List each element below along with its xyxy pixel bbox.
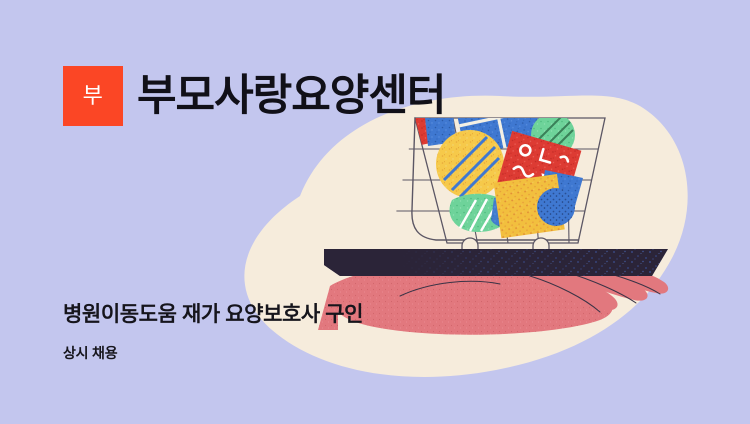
logo-badge-text: 부 [83,85,104,107]
cart-wheels [462,238,549,252]
green-striped-blob [450,194,510,232]
brand-row: 부 부모사랑요양센터 [63,66,445,126]
platform [324,249,668,276]
cart-basket [415,118,605,243]
brand-title: 부모사랑요양센터 [137,75,445,118]
blue-overlay-blob [491,197,516,226]
cart-grid [396,118,598,243]
finger-1 [536,268,618,310]
cart-handle [412,118,578,240]
subline: 상시 채용 [63,345,363,362]
finger-3 [598,266,668,294]
job-posting-banner: 부 부모사랑요양센터 병원이동도움 재가 요양보호사 구인 상시 채용 [0,0,750,424]
copy-block: 병원이동도움 재가 요양보호사 구인 상시 채용 [63,302,363,362]
yellow-striped-circle [436,130,504,198]
blue-underlayer [540,170,583,206]
cart-wheel-right [533,238,549,252]
hand [318,265,668,335]
orange-yellow-square [494,174,565,238]
cart-wheel-left [462,238,478,252]
red-patterned-square [497,131,582,205]
finger-2 [568,266,648,301]
logo-badge: 부 [63,66,123,126]
green-striped-circle [531,113,575,157]
headline: 병원이동도움 재가 요양보호사 구인 [63,302,363,327]
blue-circle [537,188,575,226]
blue-gift-box [447,52,542,156]
